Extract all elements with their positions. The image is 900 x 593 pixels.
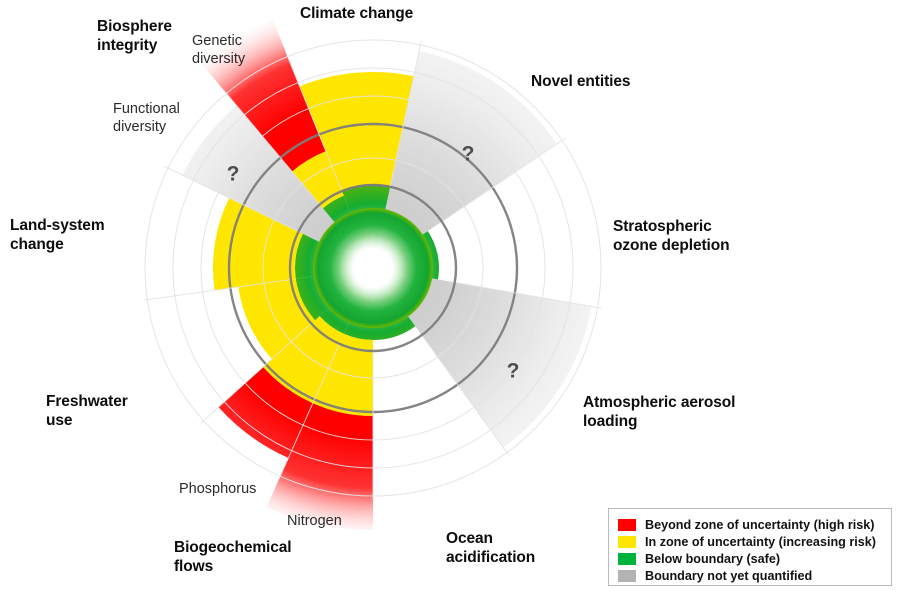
label-climate-change: Climate change xyxy=(300,5,413,24)
question-mark-novel-entities: ? xyxy=(462,143,475,166)
legend-swatch-icon xyxy=(618,553,636,565)
label-biogeochemical-flows: Biogeochemical flows xyxy=(174,539,291,577)
label-biosphere-integrity: Biosphere integrity xyxy=(97,18,172,56)
label-ocean-acidification: Ocean acidification xyxy=(446,530,535,568)
radial-chart-svg: ??? xyxy=(0,0,900,593)
legend-label: Below boundary (safe) xyxy=(645,552,780,566)
label-phosphorus: Phosphorus xyxy=(179,481,256,499)
legend-label: Boundary not yet quantified xyxy=(645,569,812,583)
core-highlight xyxy=(339,234,407,302)
legend-rows: Beyond zone of uncertainty (high risk)In… xyxy=(618,516,882,584)
label-atmospheric-aerosol-loading: Atmospheric aerosol loading xyxy=(583,394,735,432)
question-mark-atmospheric-aerosol-loading: ? xyxy=(507,360,520,383)
label-novel-entities: Novel entities xyxy=(531,73,630,92)
legend: Beyond zone of uncertainty (high risk)In… xyxy=(608,508,892,586)
label-land-system-change: Land-system change xyxy=(10,217,105,255)
label-stratospheric-ozone-depletion: Stratospheric ozone depletion xyxy=(613,218,729,256)
legend-swatch-icon xyxy=(618,536,636,548)
legend-label: Beyond zone of uncertainty (high risk) xyxy=(645,518,875,532)
legend-swatch-icon xyxy=(618,570,636,582)
question-mark-biosphere-integrity-functional-diversity: ? xyxy=(227,163,240,186)
legend-item: Below boundary (safe) xyxy=(618,550,882,567)
legend-item: In zone of uncertainty (increasing risk) xyxy=(618,533,882,550)
label-nitrogen: Nitrogen xyxy=(287,513,342,531)
legend-label: In zone of uncertainty (increasing risk) xyxy=(645,535,876,549)
label-freshwater-use: Freshwater use xyxy=(46,393,128,431)
label-genetic-diversity: Genetic diversity xyxy=(192,33,245,68)
legend-swatch-icon xyxy=(618,519,636,531)
planetary-boundaries-figure: ??? Climate change Biosphere integrity G… xyxy=(0,0,900,593)
label-functional-diversity: Functional diversity xyxy=(113,101,180,136)
legend-item: Beyond zone of uncertainty (high risk) xyxy=(618,516,882,533)
legend-item: Boundary not yet quantified xyxy=(618,567,882,584)
